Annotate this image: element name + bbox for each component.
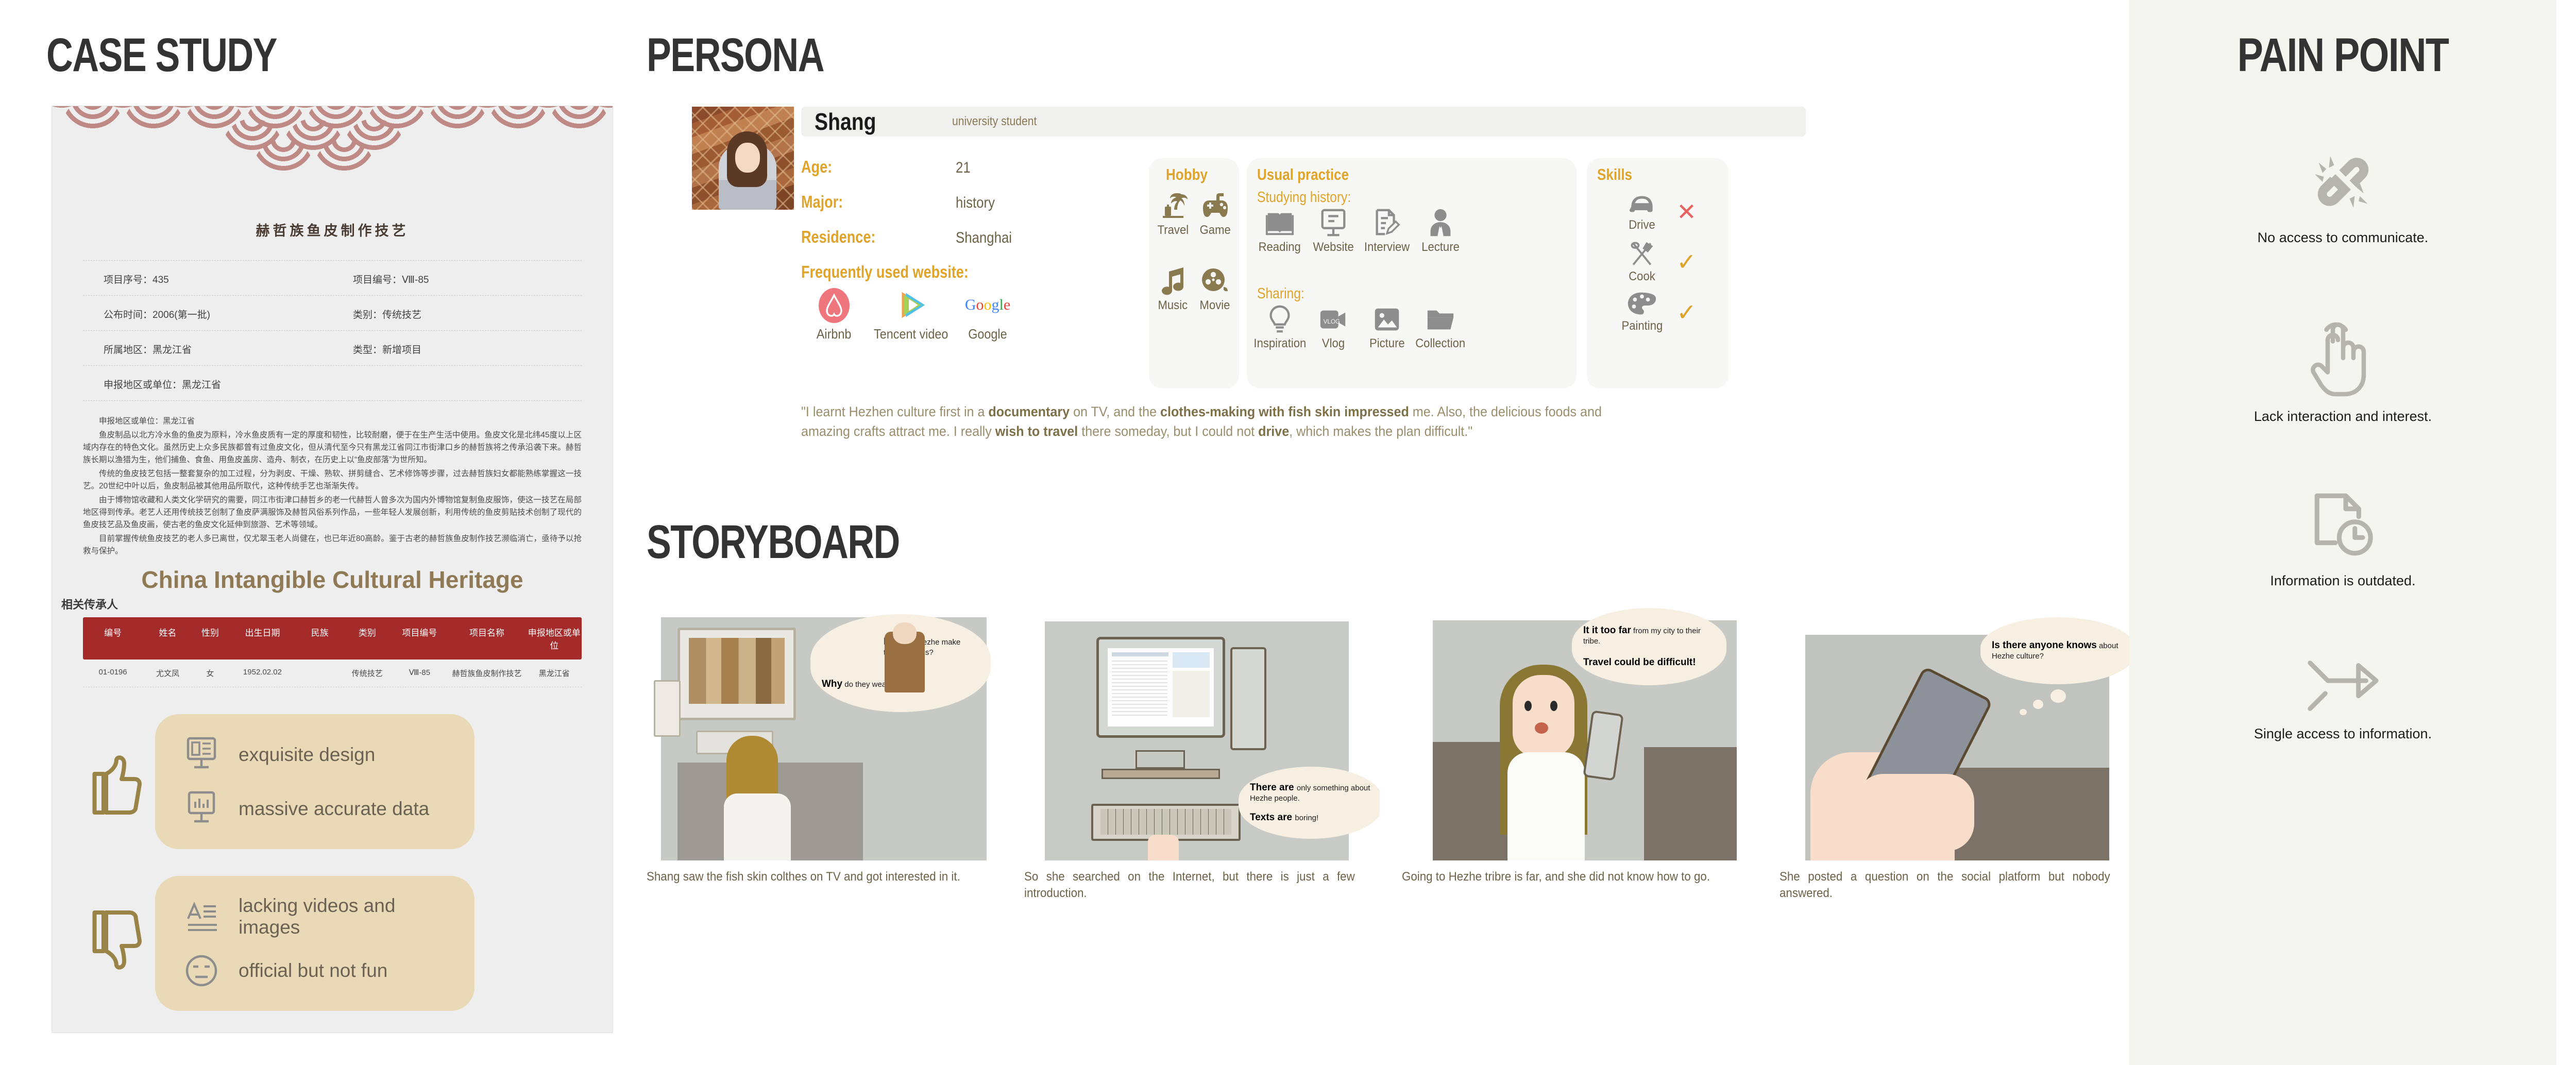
text-lines-icon (176, 898, 227, 935)
table-cell: 赫哲族鱼皮制作技艺 (447, 668, 527, 679)
studying-history-label: Studying history: (1257, 189, 1529, 206)
case-study-document: 赫哲族鱼皮制作技艺 项目序号：435 项目编号：Ⅷ-85 公布时间：2006(第… (52, 106, 613, 1033)
storyboard-section: STORYBOARD How do Hezhe make these cloth… (647, 515, 2141, 569)
feedback-item: massive accurate data (176, 782, 454, 836)
info-row: Residence: Shanghai (801, 227, 1121, 247)
body-paragraph: 鱼皮制品以北方冷水鱼的鱼皮为原料，冷水鱼皮质有一定的厚度和韧性，比较耐磨，便于在… (83, 429, 582, 466)
storyboard-illustration-2: There are only something about Hezhe peo… (1024, 603, 1380, 860)
table-cell: 女 (193, 668, 228, 679)
table-cell (297, 668, 342, 679)
layout-screen-icon (176, 736, 227, 773)
usual-practice-card: Usual practice Studying history: Reading… (1247, 158, 1577, 388)
persona-name-bar: Shang university student (801, 107, 1806, 137)
studying-icon-row: Reading Website Interview Lecture (1256, 207, 1577, 255)
storyboard-illustration-1: How do Hezhe make these clothes? Why do … (647, 603, 1002, 860)
storyboard-title: STORYBOARD (647, 515, 1812, 569)
lightbulb-icon (1264, 303, 1296, 335)
pain-point-item-2: Lack interaction and interest. (2129, 312, 2556, 425)
bubble-strong: Is there anyone knows (1992, 640, 2097, 651)
quote-part: clothes-making with fish skin impressed (1160, 404, 1409, 419)
sharing-item-inspiration: Inspiration (1256, 303, 1303, 351)
storyboard-illustration-3: It it too far from my city to their trib… (1402, 603, 1757, 860)
pain-point-title: PAIN POINT (2168, 28, 2518, 82)
storyboard-caption: Going to Hezhe tribre is far, and she di… (1402, 869, 1733, 885)
bubble-rest: boring! (1295, 814, 1318, 822)
storyboard-panel-row: How do Hezhe make these clothes? Why do … (647, 603, 2157, 902)
practice-item-website: Website (1310, 207, 1357, 255)
meta-row: 公布时间：2006(第一批) 类别：传统技艺 (83, 295, 582, 330)
persona-role: university student (952, 114, 1037, 129)
pain-point-item-3: Information is outdated. (2129, 485, 2556, 589)
meta-cell: 项目序号：435 (83, 272, 332, 286)
positive-feedback-group: exquisite design massive accurate data (78, 714, 613, 849)
practice-label: Interview (1364, 240, 1410, 255)
websites-label: Frequently used website: (801, 262, 1063, 282)
negative-feedback-pill: lacking videos and images official but n… (155, 876, 474, 1011)
table-cell: 1952.02.02 (228, 668, 298, 679)
feedback-label: exquisite design (239, 744, 375, 766)
document-pen-icon (1371, 207, 1403, 239)
skills-card-title: Skills (1597, 165, 1707, 184)
document-title: 赫哲族鱼皮制作技艺 (52, 219, 613, 240)
info-key: Residence: (801, 227, 928, 247)
practice-item-interview: Interview (1363, 207, 1411, 255)
table-cell: 01-0196 (83, 668, 143, 679)
sharing-label-text: Collection (1416, 336, 1466, 351)
storyboard-panel: Is there anyone knows about Hezhe cultur… (1780, 603, 2157, 902)
persona-portrait-photo (692, 107, 794, 210)
inheritor-label: 相关传承人 (61, 596, 613, 612)
speech-bubble: It it too far from my city to their trib… (1572, 608, 1726, 685)
table-cell: 传统技艺 (342, 668, 392, 679)
tencent-video-icon (892, 286, 930, 324)
website-icon-row: Airbnb Tencent video Google Google (801, 286, 1121, 342)
positive-feedback-pill: exquisite design massive accurate data (155, 714, 474, 849)
table-row: 01-0196 尤文凤 女 1952.02.02 传统技艺 Ⅷ-85 赫哲族鱼皮… (83, 660, 582, 687)
document-meta-table: 项目序号：435 项目编号：Ⅷ-85 公布时间：2006(第一批) 类别：传统技… (83, 260, 582, 401)
single-arrow-icon (2302, 655, 2384, 717)
applicant-line: 申报地区或单位：黑龙江省 (83, 415, 582, 428)
website-item-google[interactable]: Google Google (955, 286, 1021, 342)
meta-row: 所属地区：黑龙江省 类型：新增项目 (83, 330, 582, 365)
skill-label: Drive (1629, 218, 1655, 232)
info-value: 21 (956, 159, 971, 177)
info-key: Major: (801, 192, 928, 212)
website-item-tencent-video[interactable]: Tencent video (867, 286, 955, 342)
pain-point-item-1: No access to communicate. (2129, 143, 2556, 246)
paint-palette-icon (1626, 291, 1658, 318)
feedback-label: lacking videos and images (239, 895, 454, 938)
picture-icon (1371, 303, 1403, 335)
table-cell: 黑龙江省 (527, 668, 581, 679)
info-row: Age: 21 (801, 157, 1121, 177)
storyboard-panel: There are only something about Hezhe peo… (1024, 603, 1402, 902)
airbnb-icon (816, 287, 853, 324)
column-header: 编号 (83, 626, 143, 651)
speech-bubble: There are only something about Hezhe peo… (1239, 767, 1380, 839)
column-header: 类别 (342, 626, 392, 651)
car-icon (1626, 191, 1658, 217)
person-tie-icon (1425, 207, 1456, 239)
sharing-item-collection: Collection (1417, 303, 1464, 351)
info-value: Shanghai (956, 229, 1012, 247)
meta-cell: 所属地区：黑龙江省 (83, 342, 332, 356)
quote-part: drive (1258, 424, 1289, 439)
main-function-section: MAIN FUNCTION Friend circle interaction … (2568, 0, 2576, 1065)
meta-cell (332, 377, 582, 391)
practice-label: Reading (1259, 240, 1301, 255)
music-note-icon (1157, 264, 1190, 297)
sharing-label: Sharing: (1257, 285, 1529, 302)
hobby-item-movie: Movie (1195, 264, 1235, 313)
skills-card: Skills Drive ✕ Cook ✓ Painting ✓ (1587, 158, 1728, 388)
hobby-item-travel: Travel (1153, 189, 1193, 238)
usual-practice-title: Usual practice (1257, 165, 1526, 184)
feedback-item: exquisite design (176, 728, 454, 782)
case-study-section: CASE STUDY 赫哲族鱼皮制作技艺 (46, 28, 623, 82)
sharing-label-text: Inspiration (1253, 336, 1306, 351)
quote-part: "I learnt Hezhen culture first in a (801, 404, 988, 419)
quote-part: on TV, and the (1070, 404, 1160, 419)
body-paragraph: 传统的鱼皮技艺包括一整套复杂的加工过程，分为剥皮、干燥、熟软、拼剪缝合、艺术修饰… (83, 468, 582, 493)
meta-row: 项目序号：435 项目编号：Ⅷ-85 (83, 260, 582, 295)
table-cell: Ⅷ-85 (392, 668, 447, 679)
website-label: Airbnb (817, 326, 852, 342)
pain-point-section: PAIN POINT No access to communicate. Lac… (2129, 0, 2556, 1065)
skill-row-cook: Cook ✓ (1587, 240, 1728, 284)
hobby-label: Game (1199, 223, 1230, 238)
body-paragraph: 目前掌握传统鱼皮技艺的老人多已离世，仅尤翠玉老人尚健在，也已年近80高龄。鉴于古… (83, 533, 582, 557)
hobby-item-music: Music (1153, 264, 1193, 313)
bubble-strong: It it too far (1583, 625, 1631, 636)
storyboard-caption: Shang saw the fish skin colthes on TV an… (647, 869, 977, 885)
heritage-banner: China Intangible Cultural Heritage (52, 566, 613, 594)
hobby-icon-row: Music Movie (1149, 264, 1239, 313)
column-header: 民族 (297, 626, 342, 651)
skill-row-painting: Painting ✓ (1587, 291, 1728, 333)
vlog-icon: VLOG (1317, 303, 1349, 335)
column-header: 申报地区或单位 (527, 626, 581, 651)
pain-point-text: Lack interaction and interest. (2254, 409, 2432, 425)
persona-info-list: Age: 21 Major: history Residence: Shangh… (801, 157, 1121, 342)
column-header: 性别 (193, 626, 228, 651)
website-item-airbnb[interactable]: Airbnb (801, 287, 867, 342)
practice-item-reading: Reading (1256, 207, 1303, 255)
thumbs-down-icon (78, 905, 155, 982)
quote-part: , which makes the plan difficult." (1289, 424, 1472, 439)
hobby-label: Music (1158, 298, 1188, 313)
column-header: 出生日期 (228, 626, 298, 651)
persona-quote: "I learnt Hezhen culture first in a docu… (801, 402, 1606, 442)
skill-label: Painting (1621, 319, 1663, 333)
skill-item-drive: Drive (1619, 191, 1665, 232)
persona-name: Shang (815, 108, 876, 136)
sharing-label-text: Vlog (1322, 336, 1345, 351)
bubble-strong: Why (822, 679, 842, 689)
broken-link-icon (2304, 143, 2382, 221)
column-header: 姓名 (143, 626, 193, 651)
bar-chart-screen-icon (176, 790, 227, 827)
body-paragraph: 由于博物馆收藏和人类文化学研究的需要，同江市街津口赫哲乡的老一代赫哲人曾多次为国… (83, 494, 582, 531)
practice-item-lecture: Lecture (1417, 207, 1464, 255)
sharing-item-picture: Picture (1363, 303, 1411, 351)
meta-cell: 申报地区或单位：黑龙江省 (83, 377, 332, 391)
case-study-title: CASE STUDY (46, 28, 497, 82)
skill-label: Cook (1629, 269, 1655, 284)
skill-item-cook: Cook (1619, 240, 1665, 284)
feedback-label: massive accurate data (239, 798, 429, 820)
palm-tree-luggage-icon (1157, 189, 1190, 222)
column-header: 项目编号 (392, 626, 447, 651)
storyboard-illustration-4: Is there anyone knows about Hezhe cultur… (1780, 603, 2135, 860)
practice-label: Lecture (1421, 240, 1460, 255)
quote-part: there someday, but I could not (1078, 424, 1258, 439)
status-badge-painting: ✓ (1676, 300, 1697, 324)
quote-part: documentary (988, 404, 1070, 419)
thumbs-up-icon (78, 743, 155, 820)
website-label: Tencent video (874, 326, 948, 342)
column-header: 项目名称 (447, 626, 527, 651)
hobby-icon-row: Travel Game (1149, 189, 1239, 238)
pain-point-text: No access to communicate. (2258, 230, 2429, 246)
cooking-utensils-icon (1626, 240, 1658, 268)
info-key: Age: (801, 157, 928, 177)
bubble-strong: Travel could be difficult! (1583, 657, 1696, 668)
website-label: Google (968, 326, 1007, 342)
inheritor-table-header: 编号 姓名 性别 出生日期 民族 类别 项目编号 项目名称 申报地区或单位 (83, 617, 582, 660)
pain-point-item-4: Single access to information. (2129, 655, 2556, 742)
neutral-face-icon (176, 952, 227, 989)
status-badge-cook: ✓ (1676, 250, 1697, 274)
storyboard-panel: It it too far from my city to their trib… (1402, 603, 1780, 902)
film-reel-icon (1199, 264, 1232, 297)
svg-text:VLOG: VLOG (1324, 318, 1340, 325)
table-cell: 尤文凤 (143, 668, 193, 679)
bubble-strong: There are (1250, 782, 1297, 793)
practice-label: Website (1313, 240, 1353, 255)
folder-icon (1425, 303, 1456, 335)
meta-cell: 公布时间：2006(第一批) (83, 307, 332, 321)
meta-cell: 类型：新增项目 (332, 342, 582, 356)
quote-part: wish to travel (995, 424, 1078, 439)
skill-row-drive: Drive ✕ (1587, 191, 1728, 232)
open-book-icon (1264, 207, 1296, 239)
google-icon: Google (965, 286, 1010, 324)
skill-item-painting: Painting (1619, 291, 1665, 333)
storyboard-panel: How do Hezhe make these clothes? Why do … (647, 603, 1024, 902)
feedback-item: lacking videos and images (176, 889, 454, 943)
storyboard-caption: She posted a question on the social plat… (1780, 869, 2110, 902)
pain-point-text: Single access to information. (2254, 726, 2432, 742)
document-clock-icon (2304, 485, 2382, 564)
persona-section: PERSONA Shang university student Age: 21… (647, 28, 2105, 82)
feedback-label: official but not fun (239, 960, 387, 982)
persona-title: PERSONA (647, 28, 1784, 82)
hobby-item-game: Game (1195, 189, 1235, 238)
hobby-card-title: Hobby (1149, 165, 1225, 184)
sharing-icon-row: Inspiration VLOG Vlog Picture Collection (1256, 303, 1577, 351)
meta-cell: 类别：传统技艺 (332, 307, 582, 321)
info-row: Major: history (801, 192, 1121, 212)
sharing-label-text: Picture (1369, 336, 1405, 351)
hobby-label: Travel (1157, 223, 1189, 238)
speech-bubble: Is there anyone knows about Hezhe cultur… (1980, 617, 2135, 684)
pain-point-text: Information is outdated. (2270, 573, 2415, 589)
monitor-icon (1317, 207, 1349, 239)
scallop-pattern-decoration (52, 106, 613, 214)
gamepad-icon (1199, 189, 1232, 222)
document-body: 申报地区或单位：黑龙江省 鱼皮制品以北方冷水鱼的鱼皮为原料，冷水鱼皮质有一定的厚… (83, 415, 582, 557)
hobby-card: Hobby Travel Game Music Movie (1149, 158, 1239, 388)
meta-row: 申报地区或单位：黑龙江省 (83, 365, 582, 401)
meta-cell: 项目编号：Ⅷ-85 (332, 272, 582, 286)
sharing-item-vlog: VLOG Vlog (1310, 303, 1357, 351)
hobby-label: Movie (1200, 298, 1230, 313)
status-badge-drive: ✕ (1676, 200, 1697, 224)
bubble-strong: Texts are (1250, 812, 1295, 823)
feedback-item: official but not fun (176, 943, 454, 998)
tap-hand-icon (2304, 312, 2382, 399)
negative-feedback-group: lacking videos and images official but n… (78, 876, 613, 1011)
info-value: history (956, 194, 995, 212)
storyboard-caption: So she searched on the Internet, but the… (1024, 869, 1355, 902)
